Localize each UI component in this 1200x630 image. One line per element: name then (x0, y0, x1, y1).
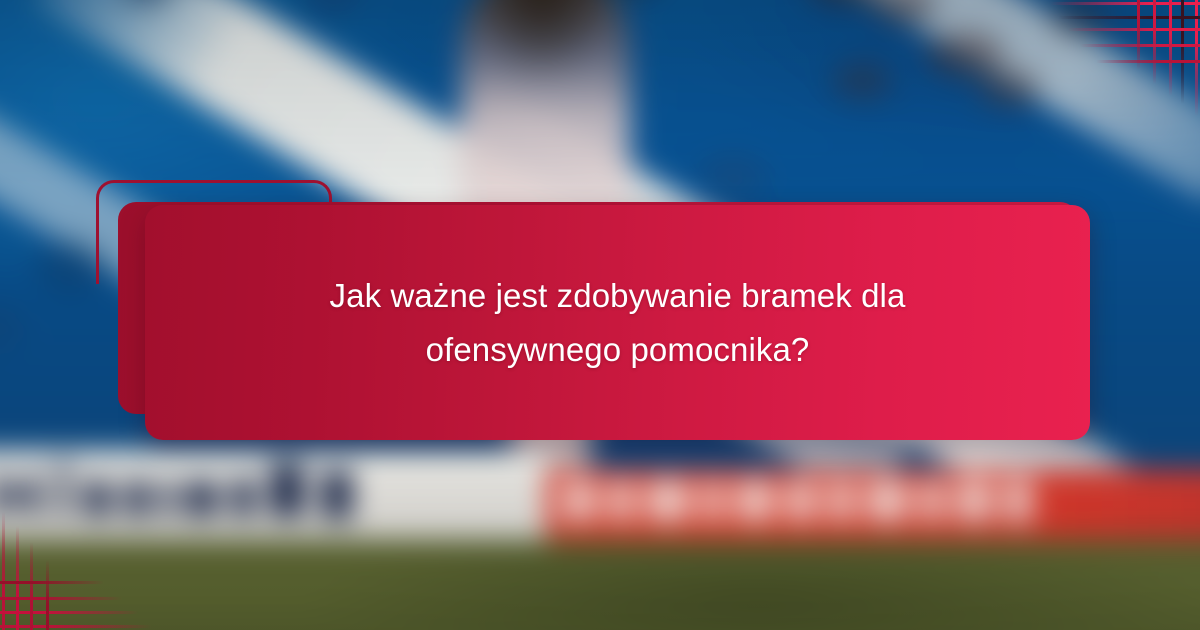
social-card-canvas: Jak ważne jest zdobywanie bramek dla ofe… (0, 0, 1200, 630)
card-stack: Jak ważne jest zdobywanie bramek dla ofe… (96, 180, 1106, 448)
question-card: Jak ważne jest zdobywanie bramek dla ofe… (145, 205, 1090, 440)
page-title: Jak ważne jest zdobywanie bramek dla ofe… (211, 269, 1024, 376)
